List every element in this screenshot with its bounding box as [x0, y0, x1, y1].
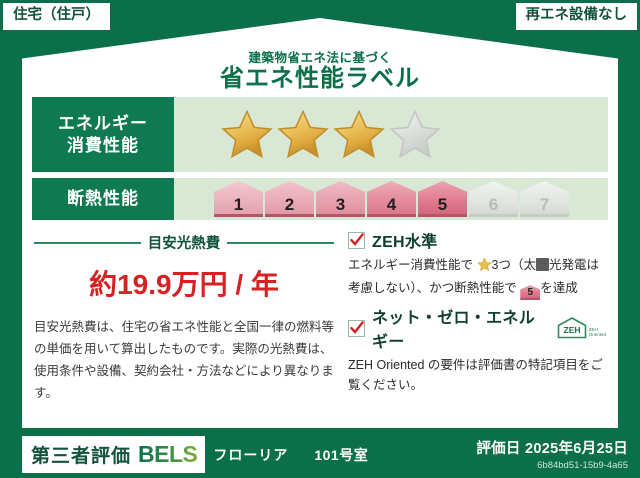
bels-badge: 第三者評価 BELS	[22, 436, 205, 473]
insulation-level-scale: 1234567	[214, 181, 571, 217]
star-icon-empty	[388, 108, 442, 162]
footer-left-group: 第三者評価 BELS フローリア 101号室	[22, 436, 368, 473]
insulation-level-3: 3	[316, 181, 365, 217]
insulation-level-label: 7	[540, 195, 549, 215]
check-item-zeh-level: ZEH水準 エネルギー消費性能で 3つ（太光発電は考慮しない）、かつ断熱性能で …	[348, 228, 606, 300]
row-energy-performance: エネルギー 消費性能	[32, 90, 608, 172]
label-card: エネルギー 消費性能 断熱性能 1234567 目安光熱費 約19.9万円 / …	[22, 90, 618, 428]
insulation-performance-label: 断熱性能	[32, 178, 174, 220]
label-subtitle: 建築物省エネ法に基づく	[248, 52, 391, 66]
evaluation-id: 6b84bd51-15b9-4a65	[476, 460, 628, 471]
row-insulation-performance: 断熱性能 1234567	[32, 172, 608, 220]
insulation-badge-value: 5	[527, 287, 533, 298]
energy-performance-value	[174, 97, 608, 172]
cost-column: 目安光熱費 約19.9万円 / 年 目安光熱費は、住宅の省エネ性能と全国一律の燃…	[34, 228, 334, 405]
insulation-level-label: 2	[285, 195, 294, 215]
zeh-house-logo-icon: ZEH	[557, 317, 587, 339]
check-icon	[348, 232, 365, 249]
energy-label-line2: 消費性能	[67, 135, 139, 156]
insulation-level-label: 6	[489, 195, 498, 215]
zeh-body-part4: を達成	[540, 281, 578, 295]
insulation-level-label: 3	[336, 195, 345, 215]
header-banner: 建築物省エネ法に基づく 省エネ性能ラベル 住宅（住戸） 再エネ設備なし	[0, 0, 640, 96]
zeh-logo-group: ZEH ZEH Oriented	[557, 317, 606, 339]
insulation-label-line1: 断熱性能	[67, 188, 139, 209]
bels-wordmark: BELS	[138, 441, 197, 468]
star-icon	[477, 257, 492, 278]
insulation-performance-value: 1234567	[174, 178, 608, 220]
zeh-logo-sub-line2: Oriented	[589, 332, 606, 337]
insulation-level-6: 6	[469, 181, 518, 217]
redacted-char-icon	[536, 258, 549, 271]
net-zero-body: ZEH Oriented の要件は評価書の特記項目をご覧ください。	[348, 355, 606, 395]
zeh-level-title: ZEH水準	[372, 228, 438, 252]
footer-right-group: 評価日 2025年6月25日 6b84bd51-15b9-4a65	[476, 437, 628, 471]
badge-dwelling-type: 住宅（住戸）	[3, 3, 110, 30]
lower-section: 目安光熱費 約19.9万円 / 年 目安光熱費は、住宅の省エネ性能と全国一律の燃…	[34, 228, 606, 405]
check-icon	[348, 320, 365, 337]
checks-column: ZEH水準 エネルギー消費性能で 3つ（太光発電は考慮しない）、かつ断熱性能で …	[334, 228, 606, 405]
insulation-level-7: 7	[520, 181, 569, 217]
insulation-level-4: 4	[367, 181, 416, 217]
svg-text:ZEH: ZEH	[563, 325, 580, 335]
insulation-level-2: 2	[265, 181, 314, 217]
insulation-level-label: 1	[234, 195, 243, 215]
star-rating	[220, 108, 442, 162]
net-zero-head: ネット・ゼロ・エネルギー ZEH ZEH Oriented	[348, 304, 606, 352]
star-icon-filled	[332, 108, 386, 162]
star-icon-filled	[220, 108, 274, 162]
zeh-body-part1: エネルギー消費性能で	[348, 258, 473, 272]
zeh-level-head: ZEH水準	[348, 228, 606, 252]
insulation-level-1: 1	[214, 181, 263, 217]
cost-heading-text: 目安光熱費	[148, 232, 221, 253]
net-zero-title: ネット・ゼロ・エネルギー	[372, 304, 547, 352]
room-name: 101号室	[314, 445, 368, 465]
star-icon-filled	[276, 108, 330, 162]
check-item-net-zero-energy: ネット・ゼロ・エネルギー ZEH ZEH Oriented ZEH Orient…	[348, 304, 606, 395]
rule-left	[34, 242, 141, 244]
zeh-level-body: エネルギー消費性能で 3つ（太光発電は考慮しない）、かつ断熱性能で 5 を達成	[348, 255, 606, 300]
insulation-level-label: 4	[387, 195, 396, 215]
rule-right	[227, 242, 334, 244]
cost-heading: 目安光熱費	[34, 232, 334, 253]
insulation-badge-inline: 5	[520, 285, 540, 300]
footer: 第三者評価 BELS フローリア 101号室 評価日 2025年6月25日 6b…	[0, 428, 640, 478]
zeh-body-part2: 3つ（太	[492, 258, 536, 272]
building-name: フローリア	[213, 445, 288, 465]
cost-note: 目安光熱費は、住宅の省エネ性能と全国一律の燃料等の単価を用いて算出したものです。…	[34, 317, 334, 405]
energy-performance-label: エネルギー 消費性能	[32, 97, 174, 172]
insulation-level-label: 5	[438, 195, 447, 215]
page-title: 省エネ性能ラベル	[220, 65, 420, 93]
zeh-logo-subtext: ZEH Oriented	[589, 327, 606, 339]
evaluation-date: 評価日 2025年6月25日	[476, 437, 628, 458]
third-party-eval-label: 第三者評価	[31, 441, 131, 468]
badge-renewable-equipment: 再エネ設備なし	[516, 3, 638, 30]
energy-label-line1: エネルギー	[58, 113, 148, 134]
cost-amount: 約19.9万円 / 年	[34, 263, 334, 303]
insulation-level-5: 5	[418, 181, 467, 217]
